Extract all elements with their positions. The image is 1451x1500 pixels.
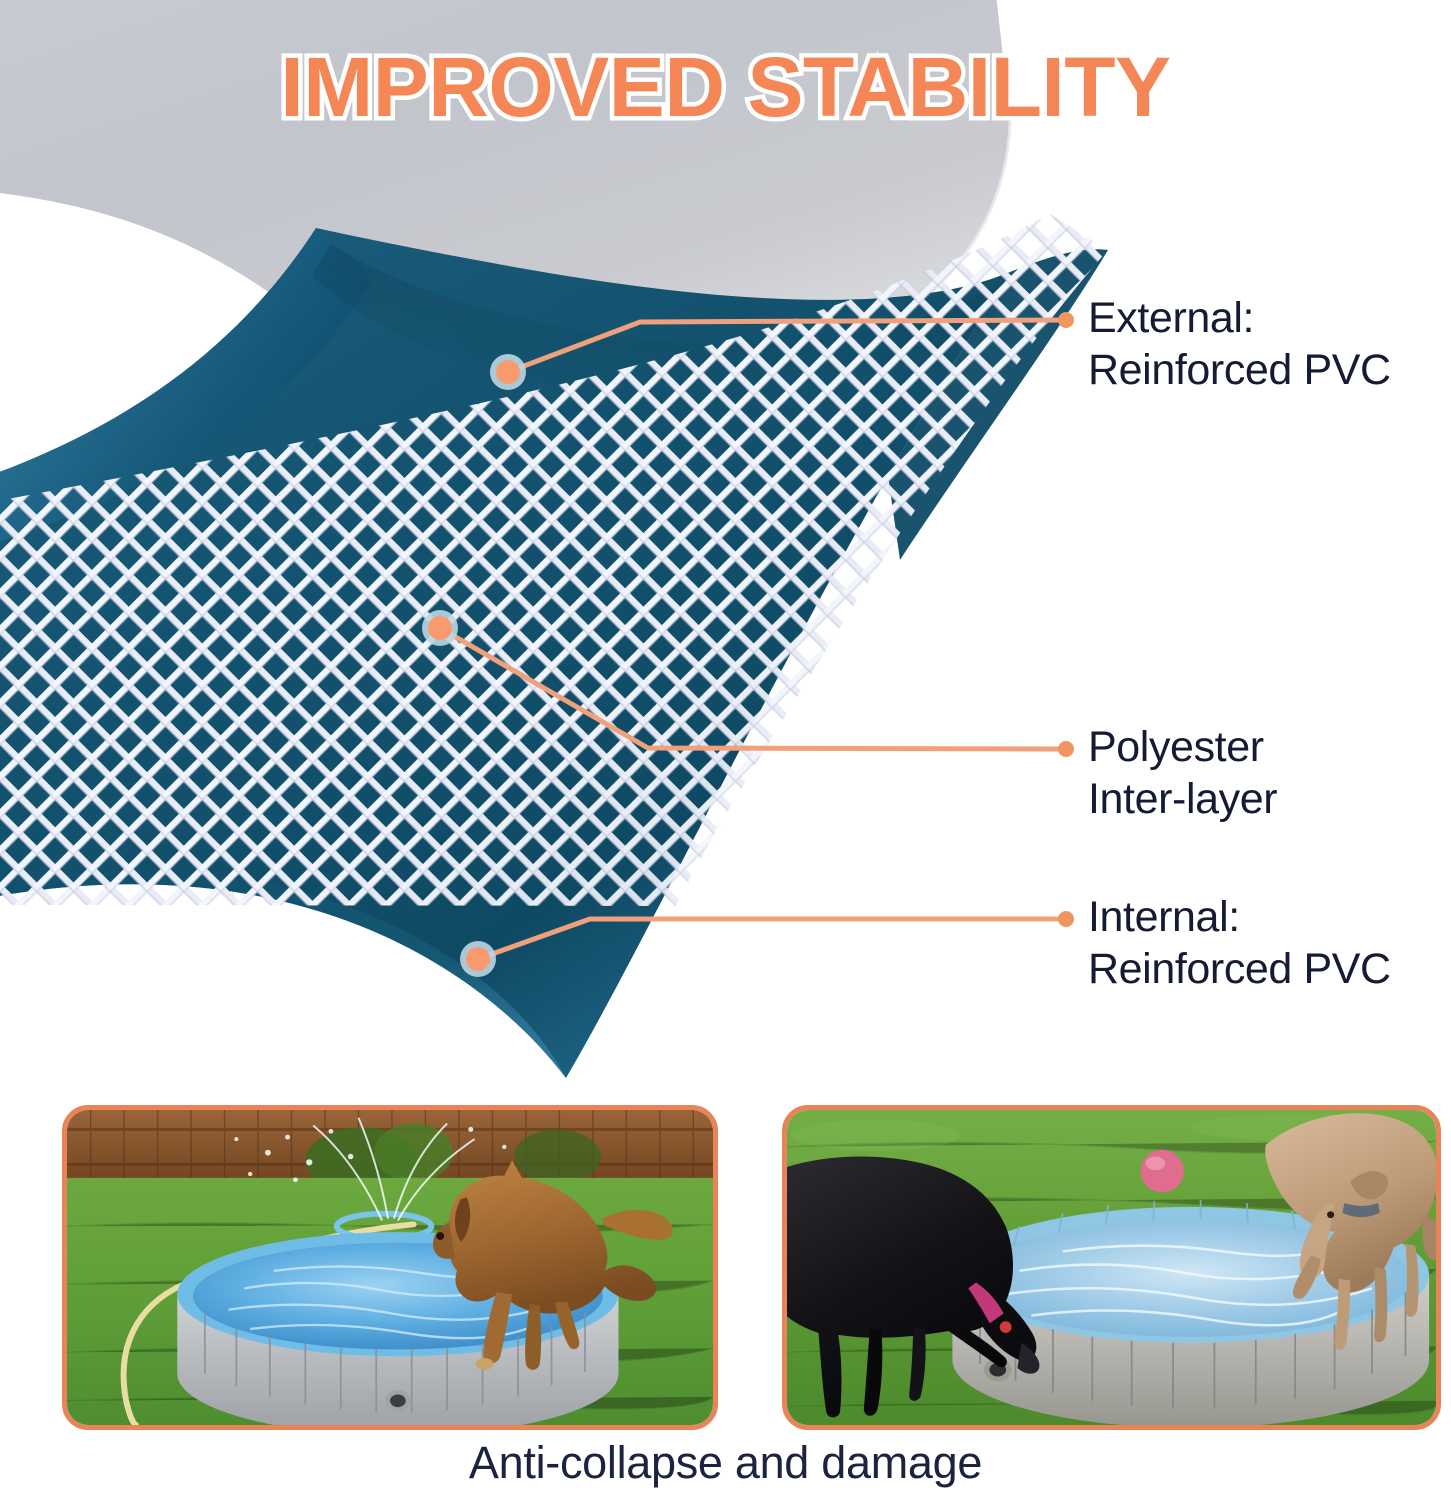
photo-left-scene <box>67 1110 713 1425</box>
callout-internal-line1: Internal: <box>1088 893 1240 941</box>
photo-row <box>0 1105 1451 1430</box>
callout-polyester-line2: Inter-layer <box>1088 774 1277 826</box>
photo-caption: Anti-collapse and damage <box>0 1437 1451 1489</box>
photo-right-scene <box>787 1110 1436 1425</box>
callout-external-line2: Reinforced PVC <box>1088 345 1391 397</box>
pink-ball <box>1141 1150 1184 1193</box>
callout-label-external: External: Reinforced PVC <box>1088 293 1391 396</box>
callout-label-internal: Internal: Reinforced PVC <box>1088 892 1391 995</box>
photo-golden-retriever-pool <box>62 1105 718 1430</box>
leader-label-dots <box>1058 312 1074 927</box>
product-infographic: IMPROVED STABILITY External: Reinforced … <box>0 0 1451 1500</box>
callout-internal-line2: Reinforced PVC <box>1088 944 1391 996</box>
callout-polyester-line1: Polyester <box>1088 723 1264 771</box>
callout-external-line1: External: <box>1088 294 1254 342</box>
callout-label-polyester: Polyester Inter-layer <box>1088 722 1277 825</box>
photo-two-dogs-pool <box>782 1105 1441 1430</box>
